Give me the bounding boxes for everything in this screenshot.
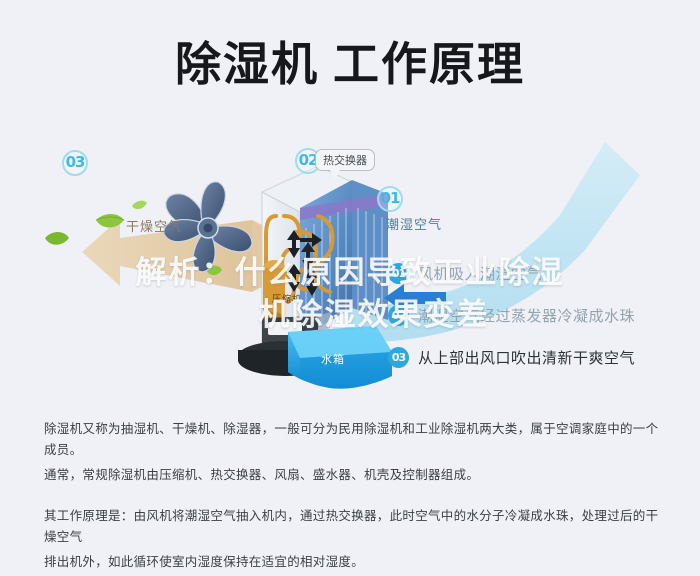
page-root: 除湿机工作原理 xyxy=(0,0,700,566)
label-water-tank: 水箱 xyxy=(321,351,345,367)
badge-03: 03 xyxy=(62,150,88,176)
step-text-02: 潮湿空气经过蒸发器冷凝成水珠 xyxy=(418,305,635,326)
badge-01: 01 xyxy=(377,186,403,212)
paragraph-spacer xyxy=(44,489,660,505)
page-title-part2: 工作原理 xyxy=(333,37,525,91)
paragraph-2-line-1: 其工作原理是：由风机将潮湿空气抽入机内，通过热交换器，此时空气中的水分子冷凝成水… xyxy=(44,505,660,547)
step-item-02: 02 潮湿空气经过蒸发器冷凝成水珠 xyxy=(388,294,678,336)
step-number-01: 01 xyxy=(388,263,409,284)
callout-heat-exchanger: 热交换器 xyxy=(315,149,375,171)
page-title-part1: 除湿机 xyxy=(175,37,319,91)
body-copy: 除湿机又称为抽湿机、干燥机、除湿器，一般可分为民用除湿机和工业除湿机两大类，属于… xyxy=(44,418,660,576)
page-title: 除湿机工作原理 xyxy=(0,28,700,94)
step-item-03: 03 从上部出风口吹出清新干爽空气 xyxy=(388,336,678,378)
paragraph-2-line-2: 排出机外，如此循环使室内湿度保持在适宜的相对湿度。 xyxy=(44,551,660,572)
step-list: 01 风机吸入潮湿空气 02 潮湿空气经过蒸发器冷凝成水珠 03 从上部出风口吹… xyxy=(388,252,678,378)
label-dry-air: 干燥空气 xyxy=(126,216,182,235)
label-compressor: 压缩机 xyxy=(272,292,302,305)
label-humid-air: 潮湿空气 xyxy=(386,214,442,233)
step-text-03: 从上部出风口吹出清新干爽空气 xyxy=(418,347,635,368)
step-item-01: 01 风机吸入潮湿空气 xyxy=(388,252,678,294)
paragraph-1-line-2: 通常，常规除湿机由压缩机、热交换器、风扇、盛水器、机壳及控制器组成。 xyxy=(44,464,660,485)
step-number-02: 02 xyxy=(388,305,409,326)
step-text-01: 风机吸入潮湿空气 xyxy=(418,263,542,284)
step-number-03: 03 xyxy=(388,347,409,368)
paragraph-1-line-1: 除湿机又称为抽湿机、干燥机、除湿器，一般可分为民用除湿机和工业除湿机两大类，属于… xyxy=(44,418,660,460)
